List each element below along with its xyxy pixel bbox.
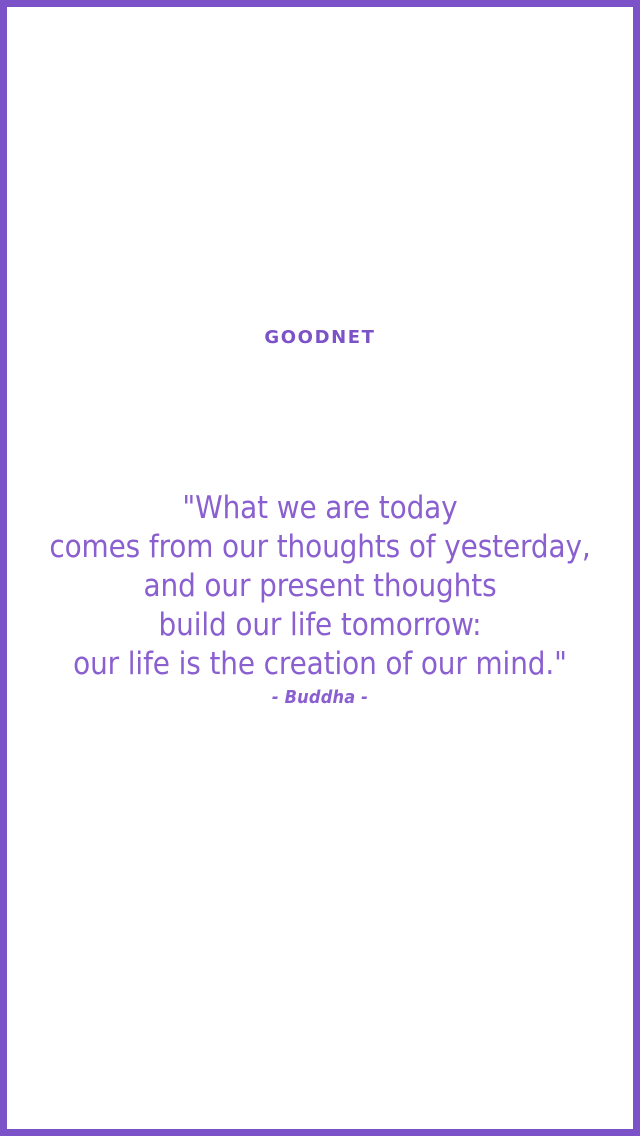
quote-attribution: - Buddha -: [7, 686, 633, 710]
quote-card: GOODNET "What we are today comes from ou…: [0, 0, 640, 1136]
card-border-left: [0, 0, 7, 1136]
card-content: GOODNET "What we are today comes from ou…: [7, 7, 633, 1129]
quote-line: build our life tomorrow:: [47, 606, 593, 645]
brand-logo-goodnet: GOODNET: [7, 327, 633, 349]
quote-line: and our present thoughts: [47, 567, 593, 606]
quote-text: "What we are today comes from our though…: [47, 489, 593, 684]
card-border-bottom: [0, 1129, 640, 1136]
card-border-right: [633, 0, 640, 1136]
quote-line: comes from our thoughts of yesterday,: [47, 528, 593, 567]
quote-line: "What we are today: [47, 489, 593, 528]
quote-line: our life is the creation of our mind.": [47, 645, 593, 684]
card-border-top: [0, 0, 640, 7]
